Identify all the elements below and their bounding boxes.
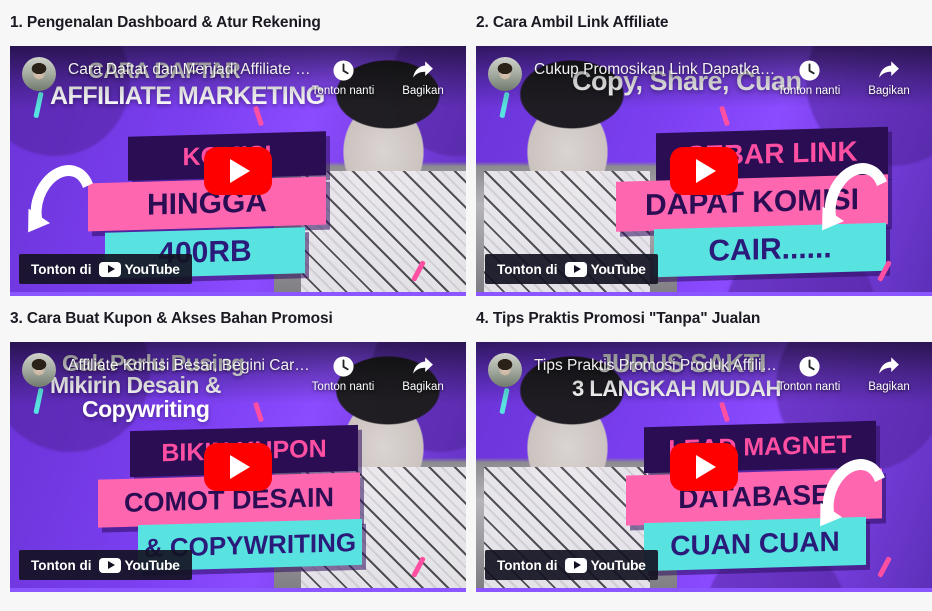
thumbnail-headline-line: AFFILIATE MARKETING (50, 84, 325, 109)
watch-on-prefix: Tonton di (31, 558, 91, 573)
play-triangle-icon (696, 455, 716, 479)
clock-icon (798, 354, 821, 378)
progress-bar-1[interactable] (10, 292, 466, 296)
video-title-1[interactable]: Cara Daftar dan Menjadi Affiliate Ka... (68, 61, 312, 79)
share-button-3[interactable]: Bagikan (392, 354, 454, 393)
lesson-heading-2: 2. Cara Ambil Link Affiliate (476, 0, 932, 46)
video-player-4[interactable]: JURUS SAKTI3 LANGKAH MUDAH LEAD MAGNETDA… (476, 342, 932, 592)
lesson-heading-4: 4. Tips Praktis Promosi "Tanpa" Jualan (476, 296, 932, 342)
share-icon (411, 58, 435, 82)
youtube-wordmark: YouTube (590, 261, 645, 277)
player-actions-1: Tonton nanti Bagikan (312, 58, 454, 97)
youtube-play-icon (565, 262, 587, 277)
play-triangle-icon (696, 159, 716, 183)
lesson-card-1: 1. Pengenalan Dashboard & Atur Rekening … (10, 0, 466, 296)
channel-avatar[interactable] (488, 57, 522, 91)
play-button-1[interactable] (204, 147, 272, 195)
watch-later-label: Tonton nanti (778, 85, 841, 97)
clock-icon (332, 58, 355, 82)
player-actions-2: Tonton nanti Bagikan (778, 58, 920, 97)
youtube-play-icon (99, 558, 121, 573)
channel-avatar[interactable] (22, 57, 56, 91)
thumbnail-arrow-icon (20, 156, 106, 254)
watch-on-youtube-button-3[interactable]: Tonton di YouTube (19, 550, 192, 580)
video-title-3[interactable]: Affiliate Komisi Besar, Begini Cara B... (68, 357, 312, 375)
youtube-logo: YouTube (565, 261, 645, 277)
progress-bar-2[interactable] (476, 292, 932, 296)
watch-later-button-1[interactable]: Tonton nanti (312, 58, 374, 97)
youtube-wordmark: YouTube (124, 557, 179, 573)
watch-on-youtube-button-1[interactable]: Tonton di YouTube (19, 254, 192, 284)
share-icon (877, 354, 901, 378)
youtube-wordmark: YouTube (124, 261, 179, 277)
share-label: Bagikan (868, 381, 910, 393)
lesson-card-3: 3. Cara Buat Kupon & Akses Bahan Promosi… (10, 296, 466, 592)
player-actions-3: Tonton nanti Bagikan (312, 354, 454, 393)
watch-later-label: Tonton nanti (312, 85, 375, 97)
watch-later-label: Tonton nanti (778, 381, 841, 393)
video-player-1[interactable]: CARA DAFTARAFFILIATE MARKETING KOMISIHIN… (10, 46, 466, 296)
share-button-1[interactable]: Bagikan (392, 58, 454, 97)
video-title-2[interactable]: Cukup Promosikan Link Dapatkan K... (534, 61, 778, 79)
watch-on-prefix: Tonton di (497, 558, 557, 573)
video-title-4[interactable]: Tips Praktis Promosi Produk Affiliat... (534, 357, 778, 375)
lesson-grid: 1. Pengenalan Dashboard & Atur Rekening … (10, 0, 922, 592)
play-button-2[interactable] (670, 147, 738, 195)
youtube-play-icon (565, 558, 587, 573)
youtube-play-icon (99, 262, 121, 277)
watch-later-label: Tonton nanti (312, 381, 375, 393)
play-triangle-icon (230, 159, 250, 183)
thumbnail-spark (719, 106, 730, 127)
thumbnail-spark (719, 402, 730, 423)
clock-icon (332, 354, 355, 378)
watch-on-prefix: Tonton di (31, 262, 91, 277)
thumbnail-headline-line: Mikirin Desain & (50, 374, 221, 397)
channel-avatar[interactable] (488, 353, 522, 387)
share-button-2[interactable]: Bagikan (858, 58, 920, 97)
lesson-grid-page: 1. Pengenalan Dashboard & Atur Rekening … (0, 0, 932, 611)
thumbnail-headline-line: 3 LANGKAH MUDAH (572, 378, 781, 400)
play-button-4[interactable] (670, 443, 738, 491)
share-icon (411, 354, 435, 378)
watch-later-button-3[interactable]: Tonton nanti (312, 354, 374, 393)
share-icon (877, 58, 901, 82)
thumbnail-headline-line: Copywriting (82, 398, 209, 421)
progress-bar-3[interactable] (10, 588, 466, 592)
youtube-logo: YouTube (99, 557, 179, 573)
share-button-4[interactable]: Bagikan (858, 354, 920, 393)
lesson-heading-1: 1. Pengenalan Dashboard & Atur Rekening (10, 0, 466, 46)
channel-avatar[interactable] (22, 353, 56, 387)
watch-later-button-2[interactable]: Tonton nanti (778, 58, 840, 97)
watch-on-youtube-button-4[interactable]: Tonton di YouTube (485, 550, 658, 580)
watch-later-button-4[interactable]: Tonton nanti (778, 354, 840, 393)
watch-on-youtube-button-2[interactable]: Tonton di YouTube (485, 254, 658, 284)
youtube-wordmark: YouTube (590, 557, 645, 573)
watch-on-prefix: Tonton di (497, 262, 557, 277)
thumbnail-spark (877, 556, 892, 578)
clock-icon (798, 58, 821, 82)
video-player-2[interactable]: Copy, Share, Cuan SEBAR LINKDAPAT KOMISI… (476, 46, 932, 296)
lesson-card-2: 2. Cara Ambil Link Affiliate Copy, Share… (476, 0, 932, 296)
player-actions-4: Tonton nanti Bagikan (778, 354, 920, 393)
share-label: Bagikan (402, 381, 444, 393)
play-button-3[interactable] (204, 443, 272, 491)
youtube-logo: YouTube (99, 261, 179, 277)
progress-bar-4[interactable] (476, 588, 932, 592)
share-label: Bagikan (868, 85, 910, 97)
thumbnail-spark (253, 402, 264, 423)
play-triangle-icon (230, 455, 250, 479)
lesson-card-4: 4. Tips Praktis Promosi "Tanpa" Jualan J… (476, 296, 932, 592)
share-label: Bagikan (402, 85, 444, 97)
youtube-logo: YouTube (565, 557, 645, 573)
lesson-heading-3: 3. Cara Buat Kupon & Akses Bahan Promosi (10, 296, 466, 342)
video-player-3[interactable]: Gak Perlu PusingMikirin Desain &Copywrit… (10, 342, 466, 592)
